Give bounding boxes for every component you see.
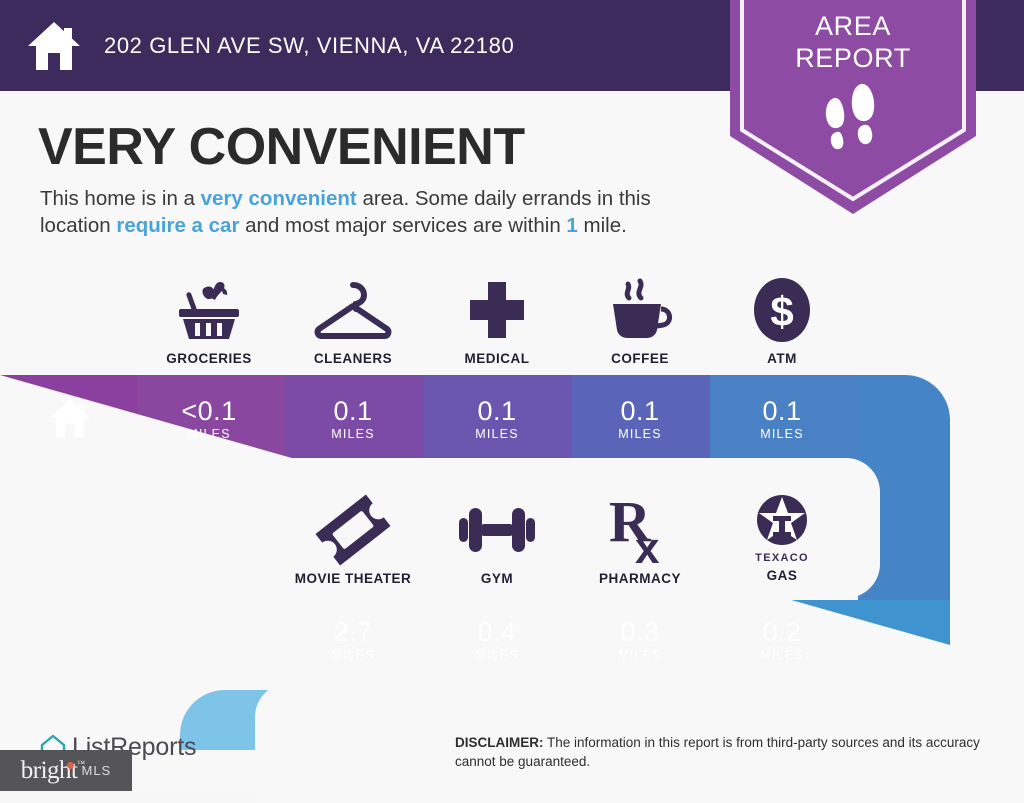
poi-gym: GYM xyxy=(437,495,557,586)
bright-wordmark: bright ™ xyxy=(21,757,78,785)
dumbbell-icon xyxy=(437,495,557,565)
area-report-page: 202 GLEN AVE SW, VIENNA, VA 22180 AREA R… xyxy=(0,0,1024,791)
poi-movie-theater: MOVIE THEATER xyxy=(293,495,413,586)
poi-coffee: COFFEE xyxy=(580,275,700,366)
svg-text:$: $ xyxy=(770,288,793,335)
poi-label: GAS xyxy=(722,568,842,583)
area-report-badge: AREA REPORT xyxy=(730,0,976,216)
poi-label: GROCERIES xyxy=(149,351,269,366)
poi-label: MEDICAL xyxy=(437,351,557,366)
poi-label: CLEANERS xyxy=(293,351,413,366)
disclaimer-label: DISCLAIMER: xyxy=(455,735,544,750)
poi-label: COFFEE xyxy=(580,351,700,366)
bar-home-icon xyxy=(48,396,92,440)
mls-wordmark: MLS xyxy=(81,763,111,778)
poi-groceries: GROCERIES xyxy=(149,275,269,366)
bright-mls-logo: bright ™ MLS xyxy=(0,750,132,791)
movie-ticket-icon xyxy=(293,495,413,565)
desc-text-1: This home is in a xyxy=(40,187,201,210)
desc-highlight-1: very convenient xyxy=(201,187,357,210)
home-icon xyxy=(26,20,82,72)
poi-label: MOVIE THEATER xyxy=(293,571,413,586)
page-title: VERY CONVENIENT xyxy=(38,118,525,176)
page-description: This home is in a very convenient area. … xyxy=(40,185,720,239)
desc-highlight-3: 1 xyxy=(566,214,577,237)
texaco-gas-icon: TEXACO xyxy=(722,492,842,564)
desc-text-3: and most major services are within xyxy=(239,214,566,237)
bright-text: bright xyxy=(21,757,78,784)
grocery-basket-icon xyxy=(149,275,269,345)
desc-highlight-2: require a car xyxy=(116,214,239,237)
poi-label: PHARMACY xyxy=(580,571,700,586)
poi-label: ATM xyxy=(722,351,842,366)
dollar-atm-icon: $ xyxy=(722,275,842,345)
disclaimer: DISCLAIMER: The information in this repo… xyxy=(455,733,990,771)
poi-cleaners: CLEANERS xyxy=(293,275,413,366)
clothes-hanger-icon xyxy=(293,275,413,345)
coffee-cup-icon xyxy=(580,275,700,345)
poi-gas: TEXACO GAS xyxy=(722,492,842,583)
bright-tm: ™ xyxy=(77,759,84,768)
poi-label: GYM xyxy=(437,571,557,586)
texaco-wordmark: TEXACO xyxy=(755,552,809,564)
poi-medical: MEDICAL xyxy=(437,275,557,366)
header-content: 202 GLEN AVE SW, VIENNA, VA 22180 xyxy=(26,0,514,91)
poi-atm: $ ATM xyxy=(722,275,842,366)
property-address: 202 GLEN AVE SW, VIENNA, VA 22180 xyxy=(104,33,514,59)
desc-text-4: mile. xyxy=(578,214,627,237)
svg-text:x: x xyxy=(635,524,660,567)
medical-cross-icon xyxy=(437,275,557,345)
rx-prescription-icon: R x xyxy=(580,495,700,565)
poi-pharmacy: R x PHARMACY xyxy=(580,495,700,586)
